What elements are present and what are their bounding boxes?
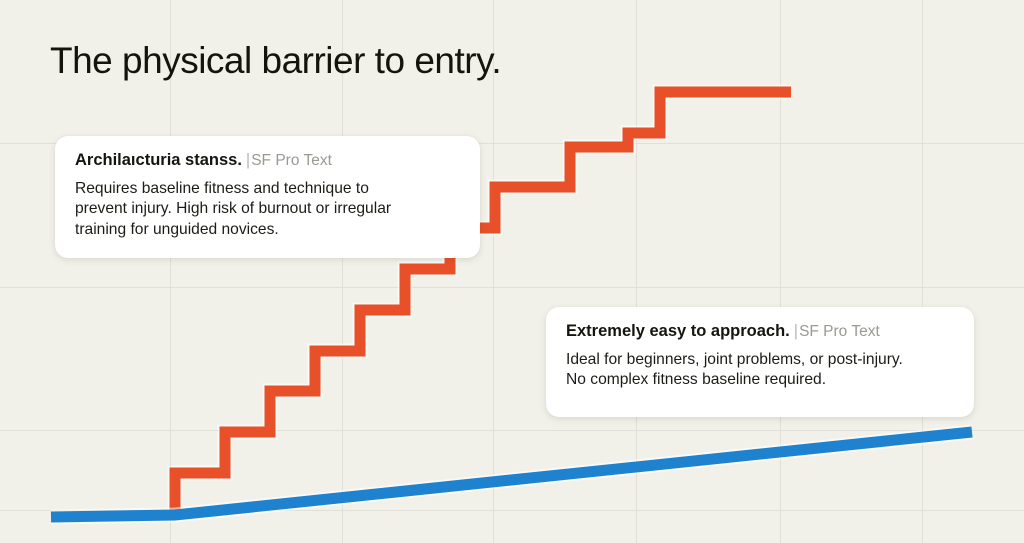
annotation-card-walking: Extremely easy to approach.|SF Pro Text …: [546, 307, 974, 417]
annotation-head-hiit: Archilaıcturia stanss.|SF Pro Text: [75, 151, 460, 171]
annotation-body-line: prevent injury. High risk of burnout or …: [75, 199, 460, 220]
annotation-font-label-walking: SF Pro Text: [799, 323, 880, 340]
annotation-body-line: Ideal for beginners, joint problems, or …: [566, 350, 954, 371]
annotation-body-walking: Ideal for beginners, joint problems, or …: [566, 350, 954, 391]
annotation-font-label-hiit: SF Pro Text: [251, 152, 332, 169]
annotation-title-hiit: Archilaıcturia stanss.: [75, 151, 242, 169]
annotation-body-line: training for unguided novices.: [75, 220, 460, 241]
annotation-title-walking: Extremely easy to approach.: [566, 322, 790, 340]
annotation-body-line: No complex fitness baseline required.: [566, 370, 954, 391]
annotation-card-hiit: Archilaıcturia stanss.|SF Pro Text Requi…: [55, 136, 480, 258]
annotation-body-hiit: Requires baseline fitness and technique …: [75, 179, 460, 241]
page-title: The physical barrier to entry.: [50, 40, 501, 82]
annotation-body-line: Requires baseline fitness and technique …: [75, 179, 460, 200]
annotation-head-walking: Extremely easy to approach.|SF Pro Text: [566, 322, 954, 342]
annotation-separator-walking: |: [790, 322, 799, 340]
annotation-separator-hiit: |: [242, 151, 251, 169]
chart-canvas: The physical barrier to entry. Archilaıc…: [0, 0, 1024, 543]
